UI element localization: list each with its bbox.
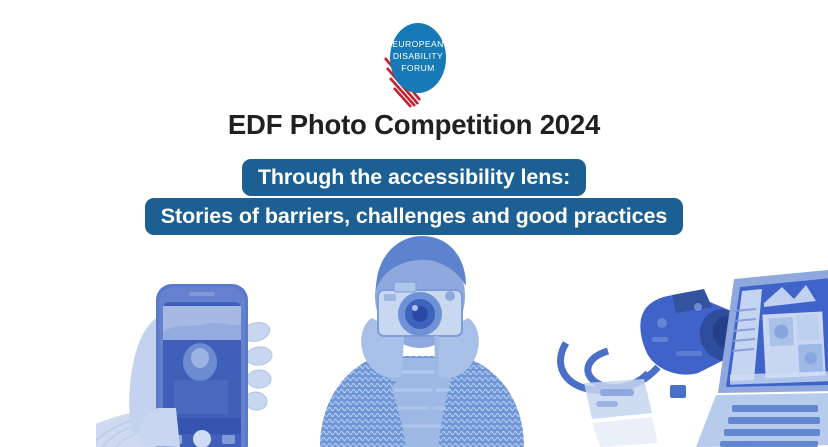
memory-card: [670, 385, 686, 398]
subtitle-line-1: Through the accessibility lens:: [242, 159, 586, 196]
table-reflection: [592, 417, 658, 447]
logo-container: EUROPEAN DISABILITY FORUM: [0, 16, 828, 108]
logo-graphic: EUROPEAN DISABILITY FORUM: [376, 16, 452, 108]
photo-strip: [0, 232, 828, 447]
accessory-bag: [584, 379, 652, 419]
subtitle-row-2: Stories of barriers, challenges and good…: [0, 198, 828, 235]
photo-camera-and-laptop: [548, 267, 828, 447]
logo-text-line-1: EUROPEAN: [392, 39, 443, 49]
logo-text-line-3: FORUM: [401, 63, 435, 73]
subtitle-line-2: Stories of barriers, challenges and good…: [145, 198, 683, 235]
subtitle-banner: Through the accessibility lens: Stories …: [0, 159, 828, 235]
photo-thumbnails: [762, 311, 825, 378]
edf-photo-competition-poster: EUROPEAN DISABILITY FORUM EDF Photo Comp…: [0, 0, 828, 447]
photo-hand-holding-smartphone: [96, 232, 306, 447]
logo-text-line-2: DISABILITY: [393, 51, 443, 61]
subtitle-row-1: Through the accessibility lens:: [0, 159, 828, 196]
page-title: EDF Photo Competition 2024: [0, 110, 828, 140]
european-disability-forum-logo: EUROPEAN DISABILITY FORUM: [376, 16, 452, 108]
photo-person-with-camera: [286, 232, 554, 447]
